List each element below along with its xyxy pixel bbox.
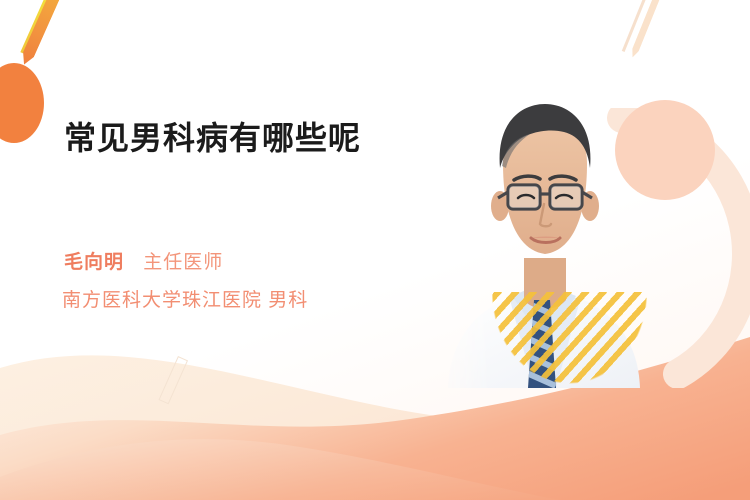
cream-diagonal-stripe-icon: [629, 0, 666, 59]
content-card: 常见男科病有哪些呢 毛向明 主任医师 南方医科大学珠江医院 男科: [0, 0, 750, 500]
doctor-photo: [430, 88, 660, 388]
orange-diagonal-stripe-icon: [19, 0, 67, 67]
page-title: 常见男科病有哪些呢: [64, 116, 424, 160]
doctor-title: 主任医师: [143, 252, 223, 273]
cream-diagonal-outline-stripe-icon: [158, 356, 188, 404]
doctor-name: 毛向明: [64, 252, 124, 273]
doctor-name-row: 毛向明 主任医师: [64, 250, 223, 276]
doctor-affiliation: 南方医科大学珠江医院 男科: [62, 288, 308, 314]
orange-circle-icon: [0, 63, 44, 143]
